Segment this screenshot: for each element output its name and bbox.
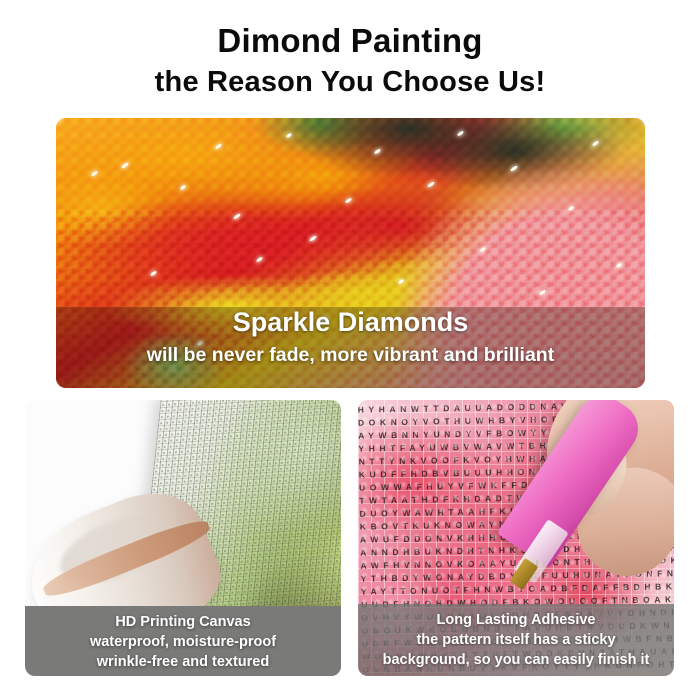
title-line-2: the Reason You Choose Us! — [0, 62, 700, 102]
adhesive-caption-line-3: background, so you can easily finish it — [358, 650, 674, 670]
adhesive-photo-panel: HYHANWTTDAUUADODDNAVFDNWUTDVKDFFTVVF DOK… — [358, 400, 674, 676]
page-title: Dimond Painting the Reason You Choose Us… — [0, 20, 700, 102]
title-line-1: Dimond Painting — [0, 20, 700, 62]
hd-canvas-caption-line-1: HD Printing Canvas — [25, 612, 341, 632]
hd-canvas-caption-line-2: waterproof, moisture-proof — [25, 632, 341, 652]
hd-canvas-caption-line-3: wrinkle-free and textured — [25, 652, 341, 672]
banner-caption-title: Sparkle Diamonds — [56, 304, 645, 340]
adhesive-caption: Long Lasting Adhesive the pattern itself… — [358, 604, 674, 676]
banner-caption: Sparkle Diamonds will be never fade, mor… — [56, 304, 645, 370]
promo-page: Dimond Painting the Reason You Choose Us… — [0, 0, 700, 700]
adhesive-caption-line-1: Long Lasting Adhesive — [358, 610, 674, 630]
hd-canvas-photo-panel: HD Printing Canvas waterproof, moisture-… — [25, 400, 341, 676]
banner-caption-subtitle: will be never fade, more vibrant and bri… — [56, 340, 645, 370]
hd-canvas-caption: HD Printing Canvas waterproof, moisture-… — [25, 606, 341, 676]
adhesive-caption-line-2: the pattern itself has a sticky — [358, 630, 674, 650]
main-banner-photo: Sparkle Diamonds will be never fade, mor… — [56, 118, 645, 388]
